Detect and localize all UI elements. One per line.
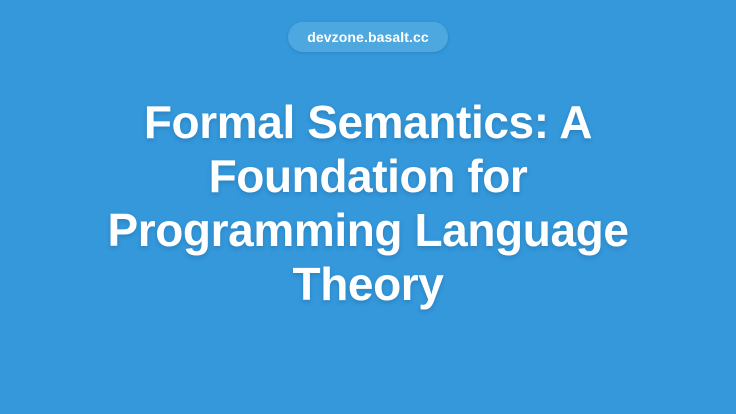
open-graph-card: devzone.basalt.cc Formal Semantics: A Fo… <box>0 0 736 414</box>
site-domain-badge: devzone.basalt.cc <box>288 22 448 52</box>
title-block: Formal Semantics: A Foundation for Progr… <box>88 95 648 311</box>
page-title: Formal Semantics: A Foundation for Progr… <box>88 95 648 311</box>
site-domain-label: devzone.basalt.cc <box>307 30 429 44</box>
